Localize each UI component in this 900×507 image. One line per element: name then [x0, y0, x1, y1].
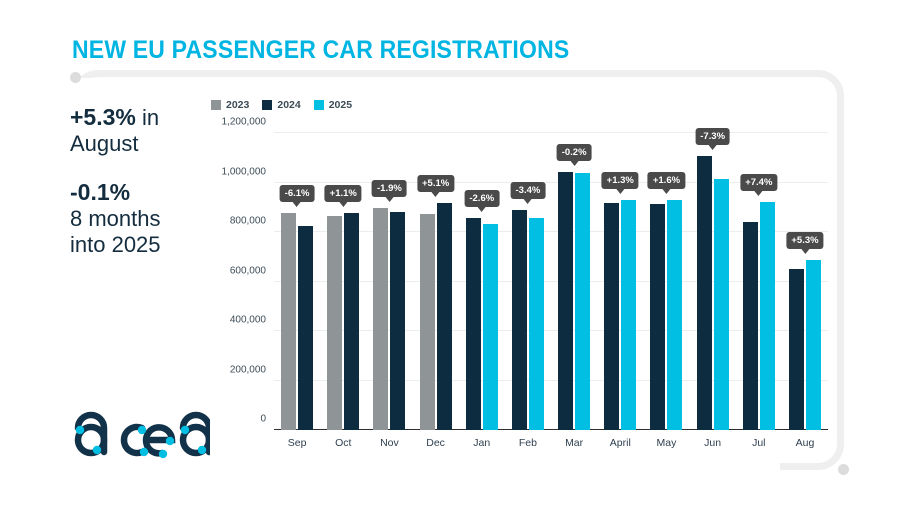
- stat-ytd-period-1: 8 months: [70, 206, 200, 232]
- bar-2025-jun[interactable]: [714, 179, 729, 430]
- bar-2024-aug[interactable]: [789, 269, 804, 430]
- y-axis-tick-label: 1,200,000: [222, 117, 267, 128]
- legend-item-2025[interactable]: 2025: [314, 99, 352, 111]
- change-annotation-label: +5.1%: [417, 175, 454, 192]
- bar-group: +5.1%Dec: [413, 133, 459, 430]
- change-annotation-label: +7.4%: [740, 174, 777, 191]
- bar-2023-dec[interactable]: [420, 214, 435, 430]
- change-annotation: -6.1%: [280, 185, 315, 202]
- x-axis-tick-label: Oct: [320, 437, 366, 449]
- x-axis-tick-label: April: [597, 437, 643, 449]
- bar-2024-jun[interactable]: [697, 156, 712, 430]
- change-annotation-label: -3.4%: [511, 182, 546, 199]
- legend-item-2024[interactable]: 2024: [262, 99, 300, 111]
- bar-group: -6.1%Sep: [274, 133, 320, 430]
- change-annotation-label: -0.2%: [557, 144, 592, 161]
- acea-logo-svg: [70, 408, 210, 470]
- change-annotation: -1.9%: [372, 180, 407, 197]
- bar-2024-dec[interactable]: [437, 203, 452, 430]
- bar-2024-may[interactable]: [650, 204, 665, 430]
- change-annotation-label: -7.3%: [695, 128, 730, 145]
- y-axis-tick-label: 200,000: [230, 364, 266, 375]
- summary-stats: +5.3% in August -0.1% 8 months into 2025: [70, 104, 200, 280]
- bar-group: -0.2%Mar: [551, 133, 597, 430]
- legend-swatch-2023: [211, 100, 221, 110]
- bar-group: -3.4%Feb: [505, 133, 551, 430]
- change-annotation: -3.4%: [511, 182, 546, 199]
- x-axis-tick-label: Feb: [505, 437, 551, 449]
- x-axis-tick-label: Nov: [366, 437, 412, 449]
- stat-august-value: +5.3%: [70, 104, 136, 130]
- bar-2024-april[interactable]: [604, 203, 619, 430]
- bar-2025-aug[interactable]: [806, 260, 821, 430]
- change-annotation: +1.1%: [325, 185, 362, 202]
- bar-2024-feb[interactable]: [512, 210, 527, 430]
- bar-2024-oct[interactable]: [344, 213, 359, 430]
- bar-groups: -6.1%Sep+1.1%Oct-1.9%Nov+5.1%Dec-2.6%Jan…: [274, 133, 828, 430]
- bar-group: -1.9%Nov: [366, 133, 412, 430]
- legend-label-2025: 2025: [329, 99, 352, 111]
- bar-2023-sep[interactable]: [281, 213, 296, 430]
- y-axis-tick-label: 1,000,000: [222, 166, 267, 177]
- bar-group: +1.3%April: [597, 133, 643, 430]
- change-annotation: +1.3%: [602, 172, 639, 189]
- bar-group: +1.1%Oct: [320, 133, 366, 430]
- x-axis-tick-label: Mar: [551, 437, 597, 449]
- change-annotation-label: -1.9%: [372, 180, 407, 197]
- bar-2025-mar[interactable]: [575, 173, 590, 430]
- bar-2025-jul[interactable]: [760, 202, 775, 430]
- bar-group: -2.6%Jan: [459, 133, 505, 430]
- panel-dot-top-left: [70, 72, 81, 83]
- y-axis-tick-label: 800,000: [230, 216, 266, 227]
- bar-2024-mar[interactable]: [558, 172, 573, 430]
- bar-2023-oct[interactable]: [327, 216, 342, 430]
- stat-ytd: -0.1% 8 months into 2025: [70, 179, 200, 258]
- y-axis-tick-label: 400,000: [230, 315, 266, 326]
- stat-august-suffix: in: [136, 105, 159, 130]
- bar-2024-jan[interactable]: [466, 218, 481, 430]
- legend-swatch-2025: [314, 100, 324, 110]
- stat-ytd-value: -0.1%: [70, 179, 130, 205]
- bar-group: +7.4%Jul: [736, 133, 782, 430]
- x-axis-tick-label: Dec: [413, 437, 459, 449]
- bar-group: -7.3%Jun: [690, 133, 736, 430]
- legend-item-2023[interactable]: 2023: [211, 99, 249, 111]
- change-annotation: +5.3%: [786, 232, 823, 249]
- bar-2024-sep[interactable]: [298, 226, 313, 430]
- x-axis-tick-label: Aug: [782, 437, 828, 449]
- bar-group: +1.6%May: [643, 133, 689, 430]
- bar-group: +5.3%Aug: [782, 133, 828, 430]
- change-annotation-label: +1.3%: [602, 172, 639, 189]
- page-title: NEW EU PASSENGER CAR REGISTRATIONS: [72, 36, 569, 65]
- y-axis-tick-label: 600,000: [230, 265, 266, 276]
- x-axis-tick-label: Sep: [274, 437, 320, 449]
- bar-2025-jan[interactable]: [483, 224, 498, 430]
- change-annotation-label: +1.1%: [325, 185, 362, 202]
- legend-label-2023: 2023: [226, 99, 249, 111]
- change-annotation-label: -2.6%: [464, 190, 499, 207]
- x-axis-tick-label: Jun: [690, 437, 736, 449]
- bar-2024-jul[interactable]: [743, 222, 758, 430]
- slide-canvas: NEW EU PASSENGER CAR REGISTRATIONS +5.3%…: [0, 0, 900, 507]
- stat-august: +5.3% in August: [70, 104, 200, 157]
- stat-ytd-headline: -0.1%: [70, 179, 200, 206]
- acea-logo: [70, 408, 210, 470]
- change-annotation: -2.6%: [464, 190, 499, 207]
- change-annotation-label: +1.6%: [648, 172, 685, 189]
- change-annotation: +1.6%: [648, 172, 685, 189]
- x-axis-tick-label: Jul: [736, 437, 782, 449]
- bar-chart: 0200,000400,000600,000800,0001,000,0001,…: [214, 126, 834, 456]
- bar-2025-april[interactable]: [621, 200, 636, 430]
- legend-swatch-2024: [262, 100, 272, 110]
- change-annotation: +5.1%: [417, 175, 454, 192]
- x-axis-tick-label: May: [643, 437, 689, 449]
- plot-area: 0200,000400,000600,000800,0001,000,0001,…: [274, 133, 828, 430]
- panel-dot-bottom-right: [838, 464, 849, 475]
- bar-2023-nov[interactable]: [373, 208, 388, 430]
- bar-2024-nov[interactable]: [390, 212, 405, 430]
- bar-2025-may[interactable]: [667, 200, 682, 430]
- change-annotation: -0.2%: [557, 144, 592, 161]
- legend-label-2024: 2024: [277, 99, 300, 111]
- change-annotation-label: -6.1%: [280, 185, 315, 202]
- stat-ytd-period-2: into 2025: [70, 232, 200, 258]
- y-axis-tick-label: 0: [260, 414, 266, 425]
- change-annotation-label: +5.3%: [786, 232, 823, 249]
- bar-2025-feb[interactable]: [529, 218, 544, 430]
- x-axis-tick-label: Jan: [459, 437, 505, 449]
- change-annotation: -7.3%: [695, 128, 730, 145]
- change-annotation: +7.4%: [740, 174, 777, 191]
- stat-august-period: August: [70, 131, 200, 157]
- stat-august-headline: +5.3% in: [70, 104, 200, 131]
- chart-legend: 2023 2024 2025: [211, 99, 352, 111]
